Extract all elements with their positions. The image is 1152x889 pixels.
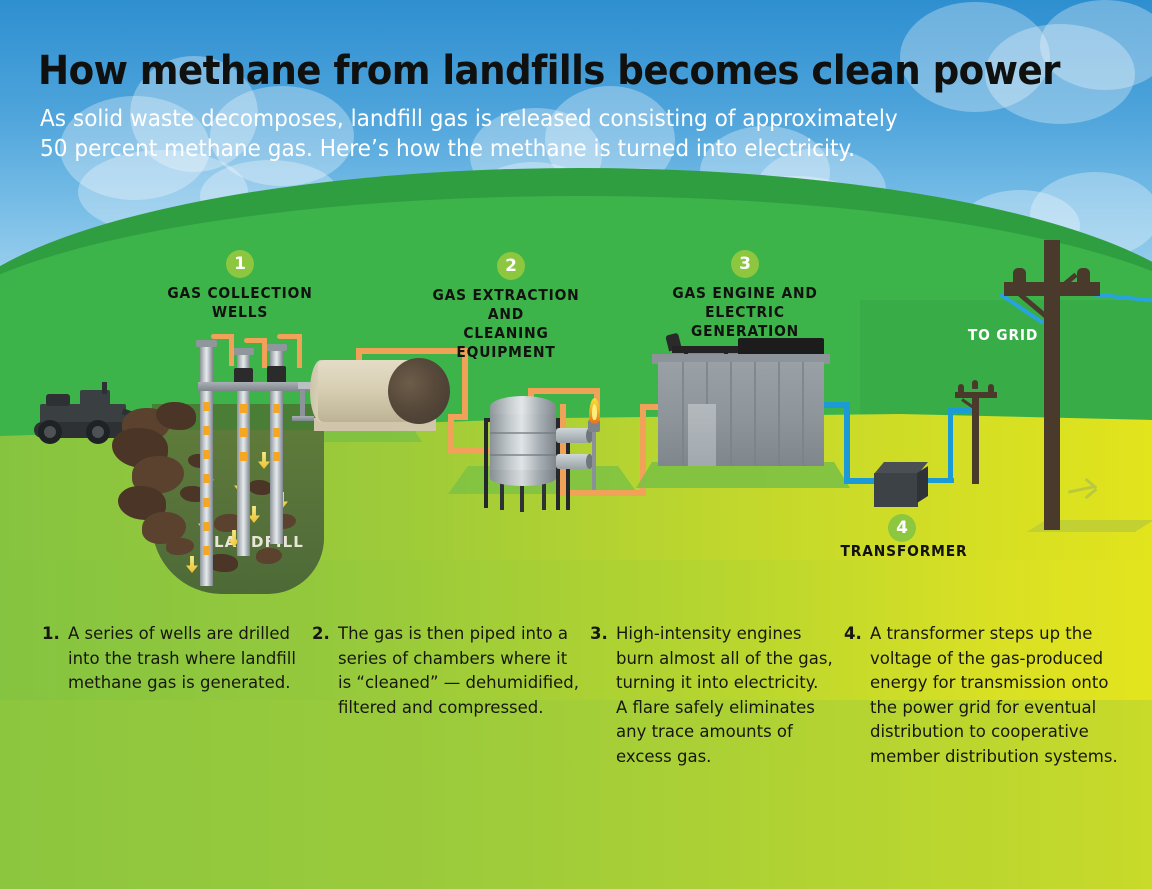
step-badge-3: 3 [731, 250, 759, 278]
well-cap [266, 344, 287, 351]
dozer-hood [46, 394, 70, 406]
caption-4-line: distribution to cooperative [870, 720, 1134, 745]
wall-rib [682, 362, 684, 466]
vessel-shell [490, 414, 556, 476]
manifold-support [300, 390, 305, 418]
step-label-2: GAS EXTRACTION AND CLEANING EQUIPMENT [423, 286, 589, 362]
caption-4-line: A transformer steps up the [870, 622, 1134, 647]
caption-4-line: energy for transmission onto [870, 671, 1134, 696]
vessel-nozzle [556, 428, 590, 443]
caption-2-line: is “cleaned” — dehumidified, [338, 671, 584, 696]
step-badge-2: 2 [497, 252, 525, 280]
well-perforation [240, 452, 247, 461]
insulator-icon [1077, 268, 1090, 284]
step-badge-4: 4 [888, 514, 916, 542]
wall-rib [730, 362, 732, 466]
cable-rise-to-pole [948, 412, 953, 482]
insulator-icon [958, 384, 964, 393]
vessel-downpipe [484, 418, 488, 508]
page-title: How methane from landfills becomes clean… [38, 48, 1060, 94]
well-perforation [273, 404, 280, 413]
infographic-canvas: How methane from landfills becomes clean… [0, 0, 1152, 889]
well-perforation [203, 402, 210, 411]
pipe-vessel-cross [528, 388, 600, 394]
pipe-run-low [560, 490, 646, 496]
cable-drop [844, 402, 850, 444]
flame-core-icon [592, 404, 597, 420]
caption-4-line: voltage of the gas-produced [870, 647, 1134, 672]
step-badge-1: 1 [226, 250, 254, 278]
caption-1-body: A series of wells are drilled into the t… [42, 622, 307, 696]
well-perforation [203, 450, 210, 459]
pipe-into-vessel [448, 448, 496, 454]
well-perforation [203, 498, 210, 507]
pipe-segment [297, 334, 302, 368]
caption-2-line: filtered and compressed. [338, 696, 584, 721]
flare-stack [592, 428, 596, 490]
field-marker [1068, 482, 1102, 498]
tank-cap-right [388, 358, 450, 424]
caption-4-body: A transformer steps up the voltage of th… [844, 622, 1134, 769]
vessel-bottom [490, 470, 556, 486]
caption-3-line: excess gas. [616, 745, 848, 770]
step-label-2-line1: GAS EXTRACTION AND [423, 286, 589, 324]
building-door [688, 404, 716, 466]
page-subtitle: As solid waste decomposes, landfill gas … [40, 104, 980, 164]
well-perforation [240, 428, 247, 437]
caption-4-number: 4. [844, 622, 862, 647]
transformer-body [874, 473, 918, 507]
caption-4-line: member distribution systems. [870, 745, 1134, 770]
caption-1-number: 1. [42, 622, 60, 647]
caption-2: 2. The gas is then piped into a series o… [312, 622, 584, 720]
step-label-3-line2: ELECTRIC GENERATION [659, 303, 830, 341]
caption-3-line: A flare safely eliminates [616, 696, 848, 721]
caption-1: 1. A series of wells are drilled into th… [42, 622, 307, 696]
vessel-leg [542, 480, 546, 510]
caption-1-line: into the trash where landfill [68, 647, 307, 672]
insulator-icon [972, 380, 978, 389]
well-perforation [203, 522, 210, 531]
step-label-2-line2: CLEANING EQUIPMENT [423, 324, 589, 362]
pipe-segment [229, 334, 234, 366]
caption-2-line: series of chambers where it [338, 647, 584, 672]
caption-3-body: High-intensity engines burn almost all o… [590, 622, 848, 769]
dozer-hub [44, 426, 56, 438]
roof-pipe [672, 346, 746, 353]
insulator-icon [988, 384, 994, 393]
subtitle-line-2: 50 percent methane gas. Here’s how the m… [40, 134, 980, 164]
caption-2-line: The gas is then piped into a [338, 622, 584, 647]
trash-chunk [142, 512, 186, 544]
dozer-hub [92, 426, 104, 438]
caption-1-line: A series of wells are drilled [68, 622, 307, 647]
to-grid-label: TO GRID [963, 326, 1042, 345]
caption-2-body: The gas is then piped into a series of c… [312, 622, 584, 720]
caption-4: 4. A transformer steps up the voltage of… [844, 622, 1134, 769]
step-label-3-line1: GAS ENGINE AND [659, 284, 830, 303]
caption-3-number: 3. [590, 622, 608, 647]
trash-chunk [248, 480, 272, 495]
dozer-exhaust [102, 382, 107, 394]
well-perforation [203, 546, 210, 555]
vessel-nozzle [556, 454, 590, 469]
vessel-seam [490, 454, 556, 456]
well-perforation [203, 426, 210, 435]
caption-3-line: turning it into electricity. [616, 671, 848, 696]
step-label-1-line2: WELLS [157, 303, 323, 322]
landfill-label: LANDFILL [214, 533, 304, 551]
step-label-4-line1: TRANSFORMER [836, 542, 972, 561]
manifold-foot [292, 416, 314, 421]
well-perforation [240, 404, 247, 413]
caption-4-line: the power grid for eventual [870, 696, 1134, 721]
caption-3-line: burn almost all of the gas, [616, 647, 848, 672]
vessel-seam [490, 432, 556, 434]
insulator-icon [1013, 268, 1026, 284]
caption-3: 3. High-intensity engines burn almost al… [590, 622, 848, 769]
wall-rib [778, 362, 780, 466]
wall-rib [802, 362, 804, 466]
subtitle-line-1: As solid waste decomposes, landfill gas … [40, 104, 980, 134]
caption-3-line: High-intensity engines [616, 622, 848, 647]
step-label-4: TRANSFORMER [836, 542, 972, 561]
caption-1-line: methane gas is generated. [68, 671, 307, 696]
wall-rib [754, 362, 756, 466]
step-label-1-line1: GAS COLLECTION [157, 284, 323, 303]
caption-3-line: any trace amounts of [616, 720, 848, 745]
step-label-1: GAS COLLECTION WELLS [157, 284, 323, 322]
well-cap [196, 340, 217, 347]
step-label-3: GAS ENGINE AND ELECTRIC GENERATION [659, 284, 830, 341]
well-cap [233, 348, 254, 355]
well-perforation [273, 428, 280, 437]
pipe-drop [448, 414, 454, 450]
well-perforation [273, 452, 280, 461]
pipe-segment [262, 338, 267, 368]
well-perforation [203, 474, 210, 483]
caption-2-number: 2. [312, 622, 330, 647]
